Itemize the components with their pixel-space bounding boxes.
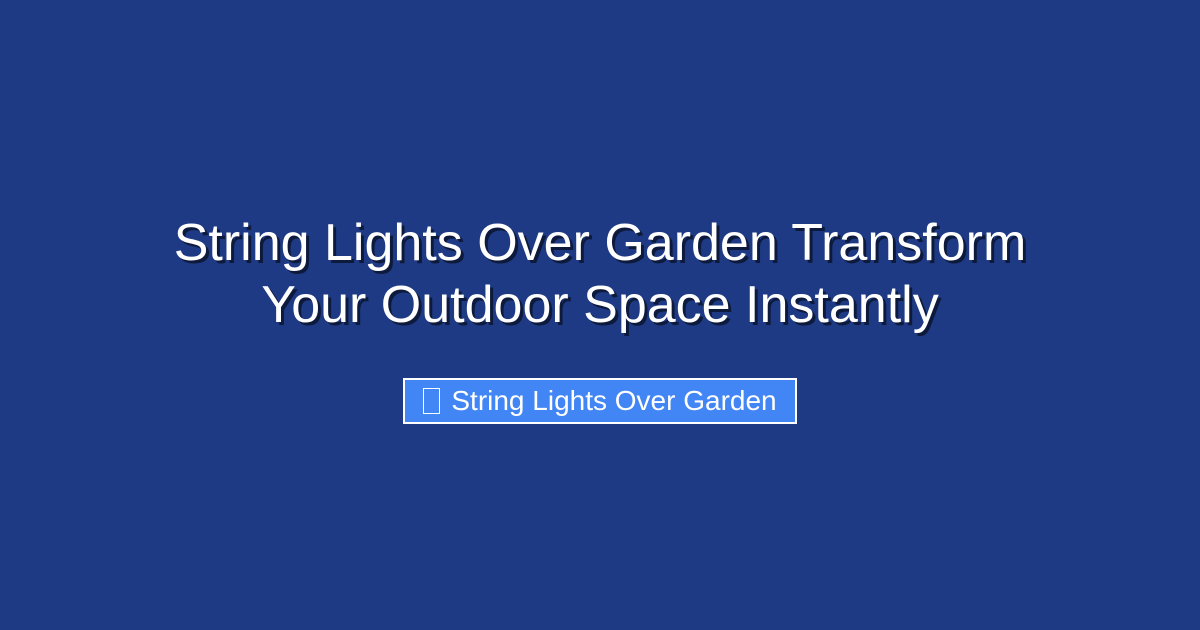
category-badge-label: String Lights Over Garden bbox=[451, 387, 776, 415]
og-image-card: String Lights Over Garden Transform Your… bbox=[0, 0, 1200, 630]
hero-content: String Lights Over Garden Transform Your… bbox=[0, 0, 1200, 630]
page-title: String Lights Over Garden Transform Your… bbox=[120, 212, 1080, 336]
badge-row: String Lights Over Garden bbox=[403, 378, 796, 424]
missing-glyph-box-icon bbox=[423, 388, 440, 414]
category-badge[interactable]: String Lights Over Garden bbox=[403, 378, 796, 424]
